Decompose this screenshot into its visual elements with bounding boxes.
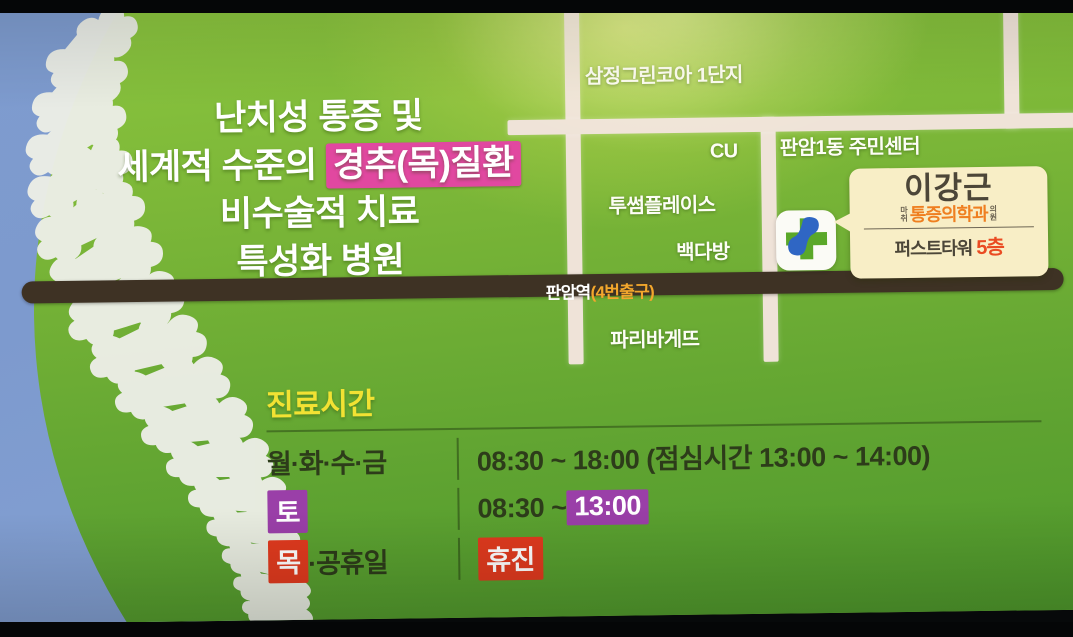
- map-label-baekdabang: 백다방: [676, 235, 730, 265]
- pharmacy-cross-icon: [776, 210, 837, 271]
- clinic-doctor-name: 이강근: [849, 171, 1047, 205]
- map-label-paris-baguette: 파리바게뜨: [610, 323, 699, 353]
- saturday-time-prefix: 08:30 ~: [477, 492, 566, 524]
- map-label-samjeong: 삼정그린코아 1단지: [585, 58, 743, 89]
- clinic-suffix-bottom: 원: [990, 214, 997, 222]
- map-label-twosome: 투썸플레이스: [608, 188, 715, 218]
- closed-badge: 휴진: [478, 536, 543, 580]
- station-name: 판암역: [546, 283, 591, 303]
- headline-highlight-cervical: 경추(목)질환: [326, 141, 521, 189]
- hours-days-closed: 목 ·공휴일: [268, 537, 459, 582]
- map-road-vertical-right: [1003, 0, 1020, 129]
- headline-line-2-prefix: 세계적 수준의: [117, 146, 317, 188]
- clinic-prefix-bottom: 취: [900, 215, 907, 223]
- day-chip-thursday: 목: [268, 539, 308, 583]
- headline-line-2: 세계적 수준의 경추(목)질환: [84, 139, 555, 193]
- hours-time-closed: 휴진: [478, 536, 543, 580]
- hours-column-separator-2: [457, 488, 460, 530]
- clinic-signboard: 난치성 통증 및 세계적 수준의 경추(목)질환 비수술적 치료 특성화 병원 …: [0, 0, 1073, 624]
- station-exit: (4번출구): [590, 282, 654, 302]
- closed-days-rest: ·공휴일: [308, 540, 388, 580]
- hours-column-separator-1: [457, 438, 460, 480]
- signboard-photo: 난치성 통증 및 세계적 수준의 경추(목)질환 비수술적 치료 특성화 병원 …: [0, 0, 1073, 637]
- photo-bottom-letterbox: [0, 622, 1073, 637]
- clinic-building: 퍼스트타워: [894, 238, 972, 259]
- hours-row-closed: 목 ·공휴일 휴진: [268, 526, 1044, 586]
- clinic-callout-sign: 이강근 마 취 통증의학과 의 원 퍼스트타워 5층: [849, 166, 1048, 279]
- clinic-specialty: 통증의학과: [910, 205, 988, 224]
- hours-days-saturday: 토: [267, 487, 458, 532]
- saturday-close-time: 13:00: [566, 489, 649, 525]
- day-chip-saturday: 토: [267, 489, 307, 533]
- map-label-community-center: 판암1동 주민센터: [780, 130, 920, 161]
- clinic-suffix-stack: 의 원: [990, 205, 998, 222]
- hours-column-separator-3: [458, 538, 461, 580]
- hours-block: 진료시간 월·화·수·금 08:30 ~ 18:00 (점심시간 13:00 ~…: [266, 370, 1044, 586]
- clinic-prefix-stack: 마 취: [900, 207, 908, 224]
- headline-line-3: 비수술적 치료: [84, 186, 555, 240]
- photo-top-letterbox: [0, 0, 1073, 13]
- clinic-address: 퍼스트타워 5층: [850, 230, 1048, 262]
- hours-title: 진료시간: [266, 370, 1042, 424]
- clinic-specialty-row: 마 취 통증의학과 의 원: [850, 204, 1048, 225]
- hours-time-weekday: 08:30 ~ 18:00 (점심시간 13:00 ~ 14:00): [477, 433, 931, 478]
- clinic-floor: 5층: [976, 237, 1004, 259]
- hours-time-saturday: 08:30 ~ 13:00: [477, 489, 649, 526]
- hours-days-weekday: 월·화·수·금: [267, 439, 457, 480]
- subway-station-label: 판암역(4번출구): [546, 277, 655, 303]
- map-label-cu: CU: [710, 140, 738, 163]
- headline-block: 난치성 통증 및 세계적 수준의 경추(목)질환 비수술적 치료 특성화 병원: [83, 91, 555, 289]
- callout-divider: [864, 226, 1034, 229]
- headline-line-1: 난치성 통증 및: [83, 91, 554, 145]
- map-road-vertical-left: [564, 4, 584, 364]
